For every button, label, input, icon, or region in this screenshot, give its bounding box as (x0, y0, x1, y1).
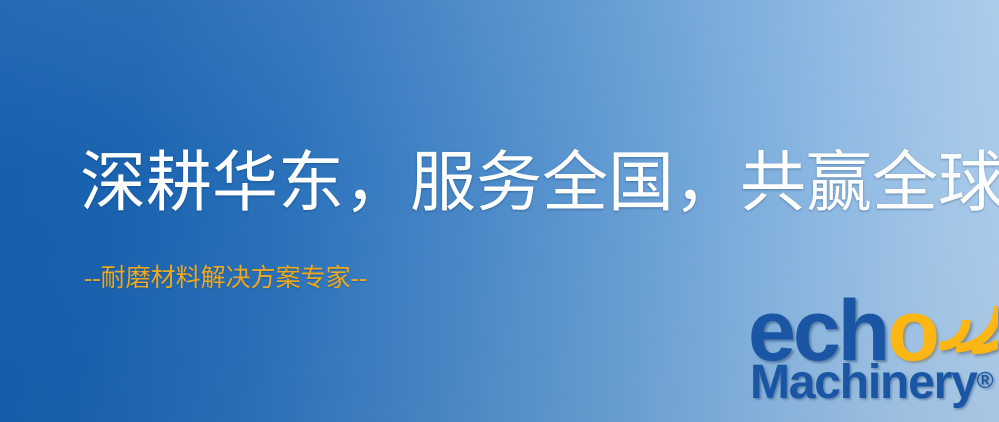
logo-tagline-text: Machinery (750, 356, 977, 409)
promotional-banner: 深耕华东，服务全国，共赢全球 --耐磨材料解决方案专家-- echo Machi… (0, 0, 999, 422)
banner-headline: 深耕华东，服务全国，共赢全球 (80, 151, 999, 217)
logo-tagline: Machinery® (750, 359, 994, 407)
registered-trademark-icon: ® (977, 367, 994, 393)
banner-subtitle: --耐磨材料解决方案专家-- (84, 266, 367, 291)
signal-arcs-icon (934, 292, 998, 354)
company-logo[interactable]: echo Machinery® (748, 296, 999, 422)
